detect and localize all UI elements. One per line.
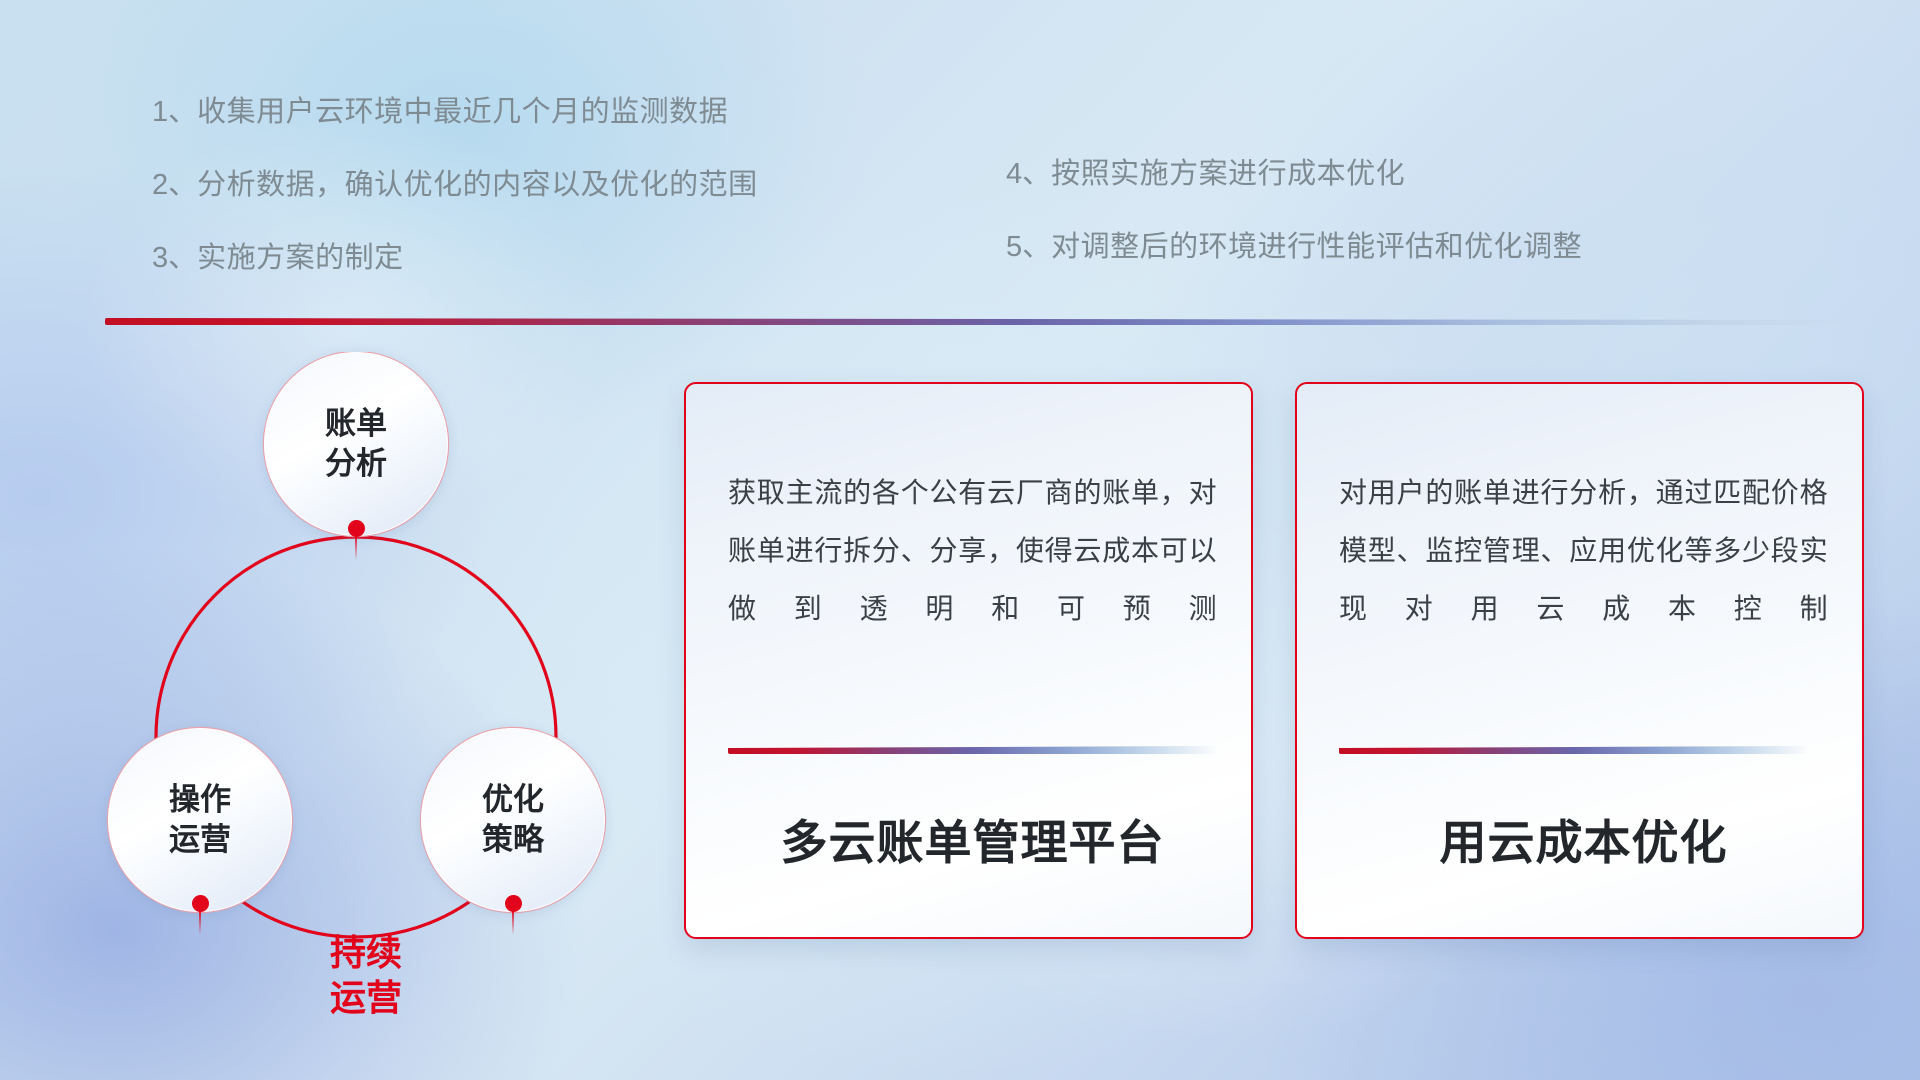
step-item-2: 2、分析数据，确认优化的内容以及优化的范围	[152, 171, 758, 200]
diagram-bubble-bill-analysis[interactable]: 账单 分析	[264, 352, 448, 536]
bubble-label: 优化 策略	[482, 780, 544, 859]
slide-root: 1、收集用户云环境中最近几个月的监测数据 2、分析数据，确认优化的内容以及优化的…	[0, 0, 1920, 1080]
step-number: 1、	[152, 96, 197, 128]
bubble-label: 操作 运营	[169, 780, 231, 859]
connector-dot-bottom-right	[505, 895, 522, 912]
feature-card-multicloud-billing[interactable]: 获取主流的各个公有云厂商的账单，对账单进行拆分、分享，使得云成本可以做到透明和可…	[684, 382, 1253, 939]
step-text: 收集用户云环境中最近几个月的监测数据	[197, 96, 728, 128]
card-accent-rule	[728, 746, 1218, 754]
diagram-center-label: 持续 运营	[286, 930, 446, 1020]
step-text: 按照实施方案进行成本优化	[1051, 158, 1405, 190]
step-number: 5、	[1006, 231, 1051, 263]
diagram-bubble-optimization-strategy[interactable]: 优化 策略	[421, 728, 605, 912]
step-item-5: 5、对调整后的环境进行性能评估和优化调整	[1006, 233, 1582, 262]
steps-list-left: 1、收集用户云环境中最近几个月的监测数据 2、分析数据，确认优化的内容以及优化的…	[152, 98, 758, 317]
connector-dot-bottom-left	[192, 895, 209, 912]
diagram-bubble-operations[interactable]: 操作 运营	[108, 728, 292, 912]
step-item-1: 1、收集用户云环境中最近几个月的监测数据	[152, 98, 758, 127]
continuous-operation-diagram: 账单 分析 操作 运营 优化 策略 持续 运营	[96, 352, 626, 952]
step-number: 2、	[152, 169, 197, 201]
card-accent-rule	[1339, 746, 1809, 754]
section-divider	[105, 318, 1855, 325]
step-text: 分析数据，确认优化的内容以及优化的范围	[197, 169, 758, 201]
steps-list-right: 4、按照实施方案进行成本优化 5、对调整后的环境进行性能评估和优化调整	[1006, 160, 1582, 306]
step-item-4: 4、按照实施方案进行成本优化	[1006, 160, 1582, 189]
step-text: 对调整后的环境进行性能评估和优化调整	[1051, 231, 1582, 263]
connector-stem-bottom-left	[199, 909, 201, 935]
connector-stem-top	[355, 534, 357, 560]
feature-card-cost-optimization[interactable]: 对用户的账单进行分析，通过匹配价格模型、监控管理、应用优化等多少段实现对用云成本…	[1295, 382, 1864, 939]
connector-dot-top	[348, 520, 365, 537]
card-body-text: 获取主流的各个公有云厂商的账单，对账单进行拆分、分享，使得云成本可以做到透明和可…	[728, 464, 1217, 639]
step-number: 3、	[152, 242, 197, 274]
bubble-label: 账单 分析	[325, 404, 387, 483]
card-body-text: 对用户的账单进行分析，通过匹配价格模型、监控管理、应用优化等多少段实现对用云成本…	[1339, 464, 1828, 639]
card-title: 多云账单管理平台	[728, 804, 1217, 873]
step-item-3: 3、实施方案的制定	[152, 244, 758, 273]
card-title: 用云成本优化	[1339, 804, 1828, 873]
connector-stem-bottom-right	[512, 909, 514, 935]
step-number: 4、	[1006, 158, 1051, 190]
step-text: 实施方案的制定	[197, 242, 404, 274]
